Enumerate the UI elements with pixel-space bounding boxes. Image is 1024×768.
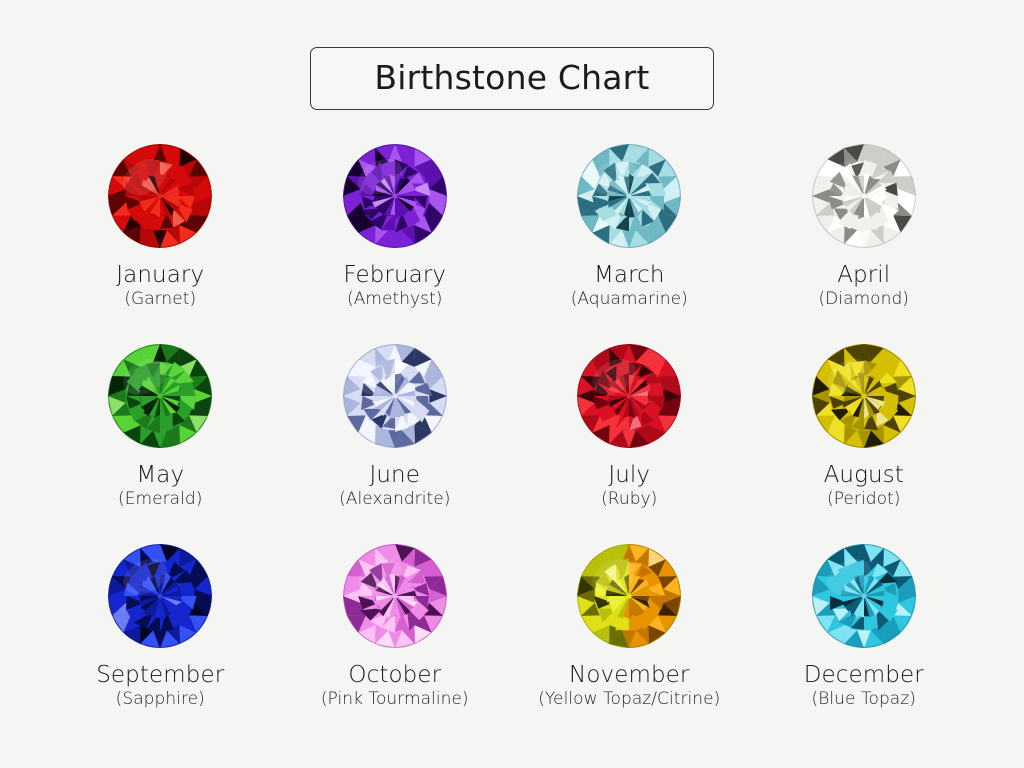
gem-icon-november (576, 543, 682, 649)
month-label: March (594, 263, 665, 287)
stone-label: (Garnet) (124, 290, 196, 309)
title-container: Birthstone Chart (0, 47, 1024, 110)
birthstone-cell-november[interactable]: November(Yellow Topaz/Citrine) (512, 543, 747, 743)
birthstone-cell-february[interactable]: February(Amethyst) (278, 143, 513, 343)
month-label: December (804, 663, 924, 687)
birthstone-cell-august[interactable]: August(Peridot) (747, 343, 982, 543)
birthstone-grid: January(Garnet)February(Amethyst)March(A… (43, 143, 981, 743)
stone-label: (Diamond) (819, 290, 909, 309)
gem-icon-august (811, 343, 917, 449)
month-label: October (348, 663, 441, 687)
month-label: June (370, 463, 421, 487)
month-label: September (96, 663, 224, 687)
stone-label: (Pink Tourmaline) (321, 690, 469, 709)
stone-label: (Alexandrite) (339, 490, 450, 509)
month-label: April (837, 263, 890, 287)
birthstone-cell-april[interactable]: April(Diamond) (747, 143, 982, 343)
gem-icon-april (811, 143, 917, 249)
month-label: February (343, 263, 446, 287)
month-label: August (824, 463, 904, 487)
stone-label: (Peridot) (827, 490, 900, 509)
gem-icon-july (576, 343, 682, 449)
gem-icon-march (576, 143, 682, 249)
birthstone-cell-october[interactable]: October(Pink Tourmaline) (278, 543, 513, 743)
gem-icon-december (811, 543, 917, 649)
title-box: Birthstone Chart (310, 47, 714, 110)
stone-label: (Blue Topaz) (812, 690, 916, 709)
birthstone-chart-page: Birthstone Chart January(Garnet)February… (0, 0, 1024, 768)
gem-icon-september (107, 543, 213, 649)
gem-icon-february (342, 143, 448, 249)
stone-label: (Amethyst) (347, 290, 442, 309)
stone-label: (Yellow Topaz/Citrine) (538, 690, 720, 709)
page-title: Birthstone Chart (357, 61, 667, 94)
birthstone-cell-july[interactable]: July(Ruby) (512, 343, 747, 543)
stone-label: (Emerald) (118, 490, 202, 509)
stone-label: (Ruby) (601, 490, 657, 509)
gem-icon-january (107, 143, 213, 249)
stone-label: (Sapphire) (116, 690, 205, 709)
gem-icon-october (342, 543, 448, 649)
month-label: July (608, 463, 650, 487)
birthstone-cell-june[interactable]: June(Alexandrite) (278, 343, 513, 543)
birthstone-cell-january[interactable]: January(Garnet) (43, 143, 278, 343)
month-label: January (116, 263, 204, 287)
month-label: November (569, 663, 689, 687)
birthstone-cell-december[interactable]: December(Blue Topaz) (747, 543, 982, 743)
birthstone-cell-september[interactable]: September(Sapphire) (43, 543, 278, 743)
birthstone-cell-march[interactable]: March(Aquamarine) (512, 143, 747, 343)
month-label: May (136, 463, 184, 487)
gem-icon-may (107, 343, 213, 449)
birthstone-cell-may[interactable]: May(Emerald) (43, 343, 278, 543)
gem-icon-june (342, 343, 448, 449)
stone-label: (Aquamarine) (571, 290, 688, 309)
